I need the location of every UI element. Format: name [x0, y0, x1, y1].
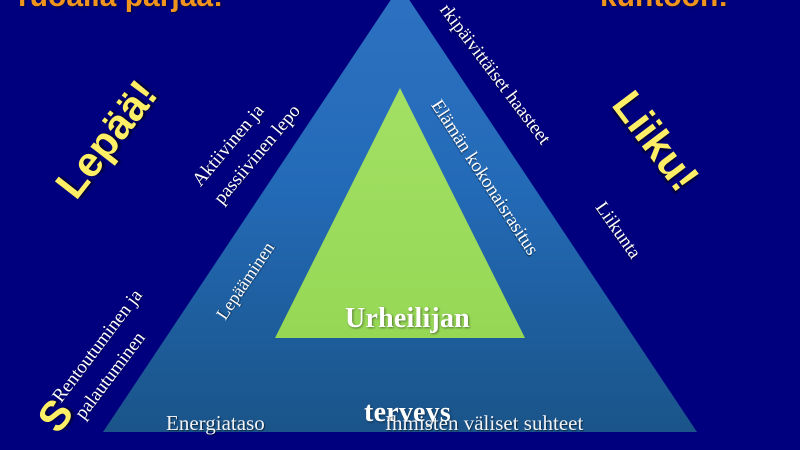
heading-top-right: kuntoon! [600, 0, 728, 14]
pyramid-label-social-line-1: Ihmisten väliset suhteet [385, 412, 583, 436]
slide-canvas: ruoalla parjaa! kuntoon! Lepää! Liiku! S… [0, 0, 800, 450]
heading-top-left: ruoalla parjaa! [18, 0, 223, 14]
core-title-line-1: Urheilijan [300, 303, 515, 334]
pyramid-label-energy: Energiataso Jaksaminen [166, 365, 265, 450]
pyramid-label-social: Ihmisten väliset suhteet Sosiaalinen elä… [385, 365, 583, 450]
pyramid-label-energy-line-1: Energiataso [166, 412, 265, 436]
